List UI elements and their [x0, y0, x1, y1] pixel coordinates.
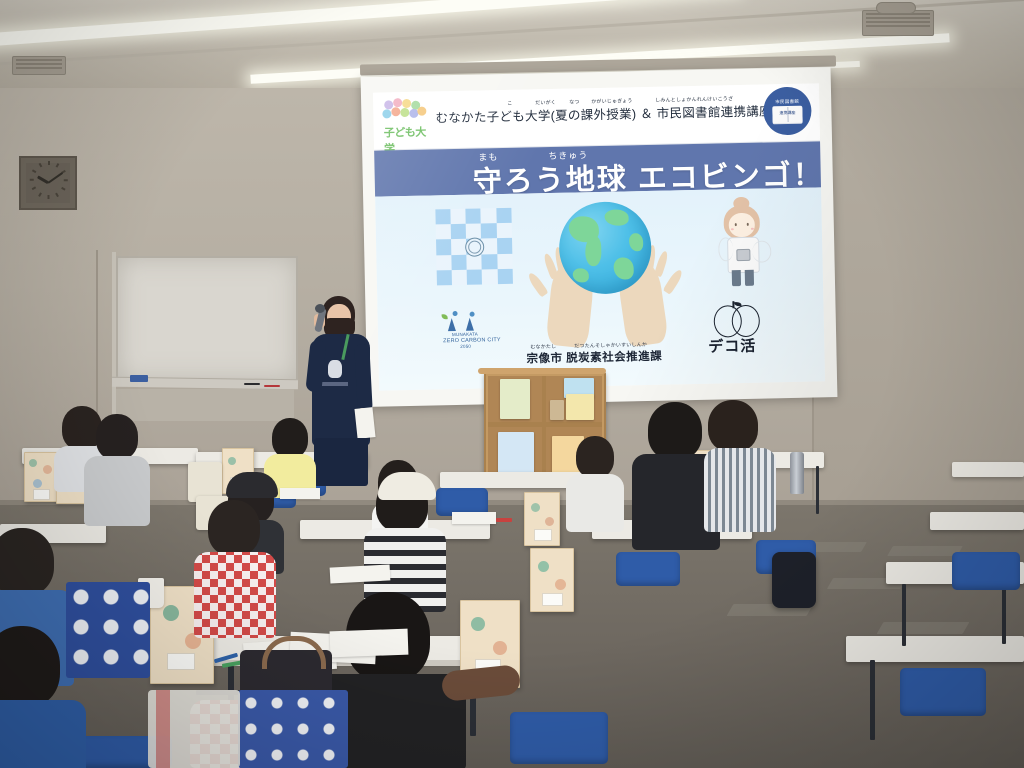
table-right-edge — [952, 462, 1024, 477]
bag-pattern — [228, 457, 236, 465]
presenter-handout[interactable] — [354, 407, 375, 439]
bag-pattern — [531, 503, 540, 512]
logo-dot — [417, 107, 426, 116]
globe-landmass — [613, 257, 633, 279]
ceiling-speaker — [876, 2, 916, 14]
bag-pattern — [555, 579, 566, 590]
tote-bag-floor[interactable] — [66, 582, 150, 678]
patterned-bag[interactable] — [238, 690, 348, 768]
chair-backrest — [952, 552, 1020, 590]
picture-book[interactable] — [500, 379, 530, 419]
logo-dot — [400, 108, 409, 117]
attendee-torso — [84, 456, 150, 526]
table-leg — [870, 660, 875, 740]
shelf-vertical-divider — [542, 427, 546, 478]
attendee-torso — [704, 448, 776, 532]
clock-tick — [64, 179, 68, 181]
mascot-face — [729, 213, 755, 238]
plastic-bag-stripe — [156, 690, 170, 768]
lecture-room-screenshot: 子ども大学 こ だいがく なつ かがいじゅぎょう しみんとしょかんれんけいこうざ… — [0, 0, 1024, 768]
slide-body: MUNAKATA ZERO CARBON CITY 2050 デコ活 むなかたし… — [375, 187, 825, 390]
chair-backrest — [616, 552, 680, 586]
deco-katsu-logo: デコ活 — [707, 300, 780, 355]
bingo-cell — [436, 239, 451, 255]
presenter-speaker — [300, 296, 386, 486]
wall-seam-left — [96, 250, 98, 430]
globe-landmass — [604, 209, 628, 225]
whiteboard-marker-black[interactable] — [244, 383, 260, 385]
mascot-cheek-right — [751, 228, 754, 230]
projection-screen: 子ども大学 こ だいがく なつ かがいじゅぎょう しみんとしょかんれんけいこうざ… — [361, 67, 838, 407]
logo-dot — [382, 109, 391, 118]
hand-left-thumb — [526, 271, 548, 297]
hand-right-finger — [654, 250, 670, 277]
attendee-head — [272, 418, 308, 458]
deco-leaf — [734, 302, 741, 306]
badge-top-text: 市民図書館 — [775, 99, 799, 106]
picture-book[interactable] — [566, 394, 594, 420]
mascot-cheek-left — [731, 228, 734, 230]
deco-apple-right — [731, 305, 760, 338]
bag-tag — [534, 529, 552, 541]
mascot-leg-right — [745, 270, 754, 286]
presenter-skirt — [314, 438, 368, 486]
white-cap-icon — [378, 472, 436, 500]
whiteboard-marker-red[interactable] — [264, 385, 280, 387]
paper-gift-bag[interactable] — [530, 548, 574, 612]
attendee-head — [648, 402, 702, 460]
marker-pen[interactable] — [496, 518, 512, 522]
clock-tick — [48, 195, 50, 199]
hand-right-thumb — [663, 268, 685, 295]
mascot-eye-right — [747, 223, 749, 226]
slide-content: 子ども大学 こ だいがく なつ かがいじゅぎょう しみんとしょかんれんけいこうざ… — [373, 83, 825, 390]
presenter-text-print — [322, 382, 348, 386]
whiteboard — [116, 256, 298, 382]
bag-pattern — [29, 459, 37, 467]
bag-pattern — [493, 641, 507, 655]
whiteboard-eraser[interactable] — [130, 375, 148, 382]
attendee-head — [708, 400, 758, 452]
bingo-cell — [465, 208, 480, 223]
bingo-cell — [496, 208, 511, 223]
logo-leaf — [442, 314, 448, 319]
bag-pattern — [538, 561, 549, 572]
mascot-arm-right — [752, 240, 771, 262]
worksheet-paper[interactable] — [330, 564, 391, 583]
picture-book[interactable] — [550, 400, 564, 420]
logo-person-dot — [453, 311, 458, 316]
zero-carbon-line3: 2050 — [460, 344, 471, 349]
paper-gift-bag[interactable] — [524, 492, 560, 546]
globe-landmass — [585, 236, 602, 266]
black-cap-icon — [226, 472, 278, 498]
zero-carbon-line1: MUNAKATA — [452, 332, 478, 338]
globe-landmass — [629, 233, 643, 251]
bag-pattern — [43, 465, 52, 474]
attendee-head — [208, 500, 260, 556]
attendee-torso — [0, 700, 86, 768]
zero-carbon-line2: ZERO CARBON CITY — [443, 337, 501, 344]
bag-tag — [167, 653, 195, 670]
table-leg — [816, 466, 819, 514]
presenter-logo-print — [328, 360, 342, 378]
badge-book-text: 連携講座 — [779, 110, 795, 116]
bingo-cell — [437, 270, 452, 285]
bag-pattern — [163, 605, 179, 621]
bag-pattern — [33, 479, 42, 488]
bingo-cell — [451, 255, 466, 270]
bag-tag — [542, 593, 563, 606]
ceiling-vent-left — [12, 56, 66, 75]
bingo-cell — [497, 238, 512, 254]
bingo-cell — [481, 254, 497, 269]
whiteboard-lower-panel — [116, 389, 294, 421]
globe-landmass — [573, 268, 589, 282]
chair-backrest — [900, 668, 986, 716]
clock-tick — [30, 179, 34, 181]
mascot-camera-icon — [736, 249, 750, 261]
table-leg — [1002, 584, 1006, 644]
bingo-cell — [435, 209, 450, 224]
bag-tag — [33, 489, 50, 500]
logo-dot — [391, 107, 400, 116]
bingo-cell — [451, 224, 466, 239]
chair-backrest — [510, 712, 608, 764]
attendee-head — [576, 436, 614, 478]
attendee-torso — [194, 552, 276, 638]
library-collaboration-badge: 市民図書館 連携講座 — [763, 87, 812, 136]
attendee-head — [0, 528, 54, 596]
wall-clock — [19, 156, 77, 210]
kodomo-daigaku-logo: 子ども大学 — [382, 98, 427, 143]
bingo-cell — [481, 223, 497, 238]
attendee-torso — [566, 474, 624, 532]
girl-mascot-character — [711, 196, 775, 301]
footer-organization: 宗像市 脱炭素社会推進課 — [526, 348, 662, 367]
zero-carbon-city-logo: MUNAKATA ZERO CARBON CITY 2050 — [440, 310, 493, 351]
bag-pattern — [545, 517, 554, 526]
mascot-eye-left — [735, 223, 737, 226]
mascot-arm-left — [718, 237, 733, 261]
logo-person-dot — [470, 312, 475, 317]
logo-mountain — [466, 318, 474, 331]
logo-dot — [393, 98, 402, 107]
backpack[interactable] — [772, 552, 816, 608]
table-leg — [902, 584, 906, 646]
carpet-tile — [877, 622, 970, 634]
paper-gift-bag[interactable] — [24, 452, 58, 502]
bingo-cell — [498, 269, 513, 284]
table-right-col-1 — [930, 512, 1024, 530]
shelf-vertical-divider — [542, 376, 546, 422]
worksheet-paper[interactable] — [280, 488, 320, 499]
microphone-head-icon — [315, 304, 325, 313]
deco-katsu-text: デコ活 — [708, 335, 756, 357]
logo-mountain — [448, 318, 456, 331]
thermos-flask[interactable] — [790, 452, 804, 494]
bingo-card — [435, 208, 513, 286]
worksheet-paper[interactable] — [330, 629, 409, 658]
bag-pattern — [471, 617, 485, 631]
table-right-col-3 — [846, 636, 1024, 662]
slide-header: 子ども大学 こ だいがく なつ かがいじゅぎょう しみんとしょかんれんけいこうざ… — [373, 83, 820, 150]
shelf-top-rail — [478, 368, 606, 374]
bingo-cell — [467, 269, 482, 284]
worksheet-paper[interactable] — [452, 512, 496, 524]
attendee-head — [96, 414, 138, 460]
slide-header-title: むなかた子ども大学(夏の課外授業) ＆ 市民図書館連携講座 — [435, 100, 772, 126]
logo-dot — [402, 99, 411, 108]
mascot-leg-left — [732, 270, 741, 286]
clock-tick — [48, 161, 50, 165]
picture-book[interactable] — [498, 432, 534, 474]
